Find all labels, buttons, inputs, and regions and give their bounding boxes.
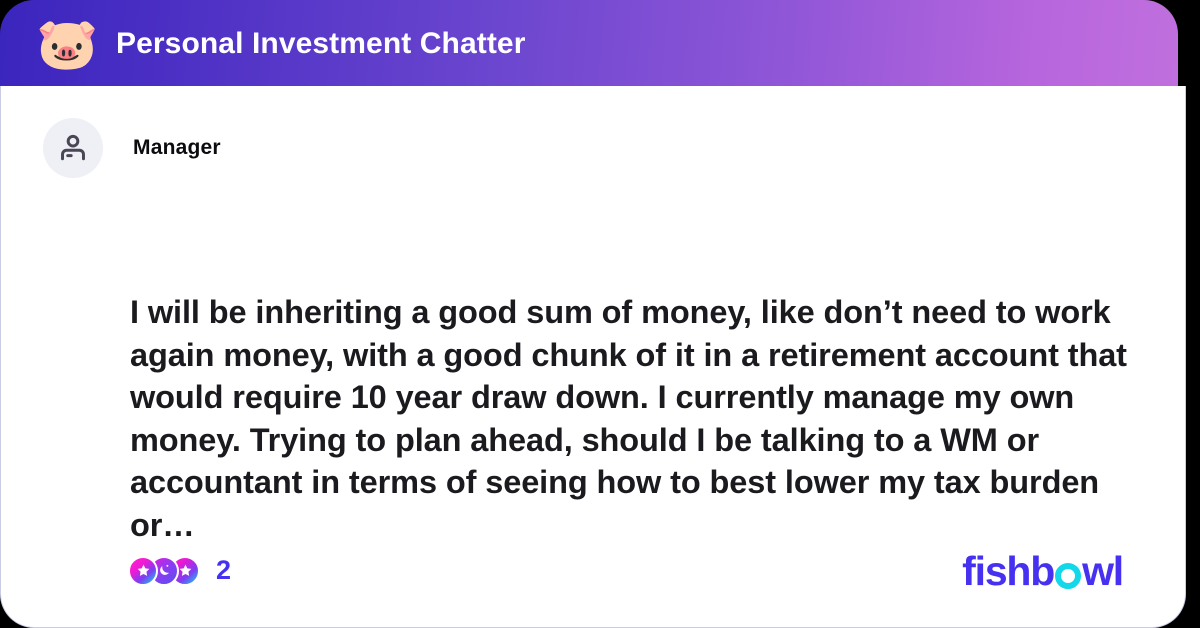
channel-title: Personal Investment Chatter bbox=[116, 27, 526, 61]
star-glyph bbox=[136, 563, 151, 578]
piggy-bank-icon: 🐷 bbox=[36, 13, 98, 75]
fishbowl-logo-text-after: wl bbox=[1082, 549, 1123, 593]
post-footer: 2 fishbwl bbox=[1, 541, 1185, 626]
channel-header: 🐷 Personal Investment Chatter bbox=[0, 0, 1178, 87]
author-row[interactable]: Manager bbox=[43, 118, 221, 178]
post-body-text: I will be inheriting a good sum of money… bbox=[130, 291, 1150, 546]
reaction-count: 2 bbox=[216, 555, 231, 586]
reactions-group[interactable]: 2 bbox=[128, 555, 231, 586]
post-card-screenshot: 🐷 Personal Investment Chatter Manager I … bbox=[0, 0, 1200, 628]
reaction-badge-stack[interactable] bbox=[128, 556, 202, 586]
fishbowl-logo-bowl-icon bbox=[1055, 563, 1081, 589]
post-card: Manager I will be inheriting a good sum … bbox=[0, 86, 1186, 628]
crescent-glyph bbox=[157, 563, 172, 578]
fishbowl-logo-text-before: fishb bbox=[962, 549, 1054, 593]
avatar bbox=[43, 118, 103, 178]
fishbowl-logo: fishbwl bbox=[962, 549, 1123, 593]
star-reaction-icon[interactable] bbox=[128, 556, 158, 586]
author-name: Manager bbox=[133, 136, 221, 160]
star-glyph bbox=[178, 563, 193, 578]
person-icon bbox=[56, 131, 90, 165]
